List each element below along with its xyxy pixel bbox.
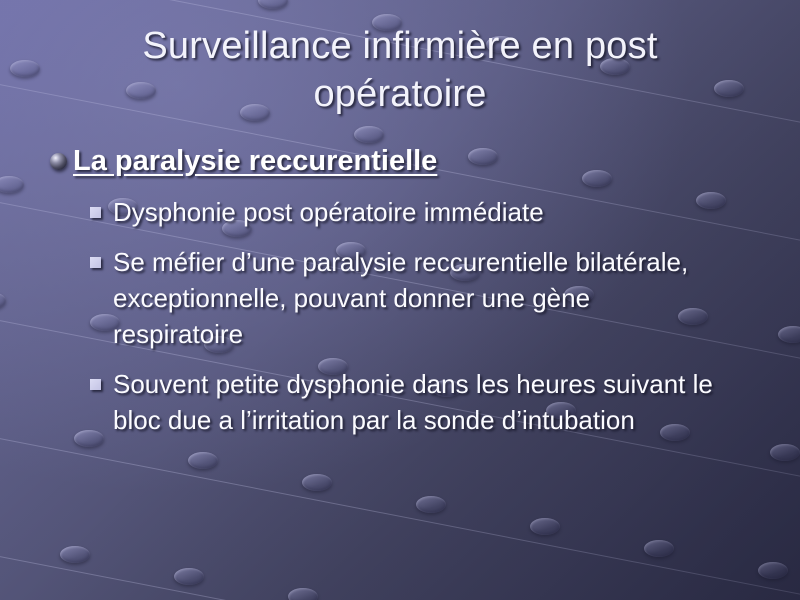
square-bullet-icon xyxy=(90,257,101,268)
square-bullet-icon xyxy=(90,379,101,390)
bullet-level1-text: La paralysie reccurentielle xyxy=(73,145,437,177)
bullet-level2: Dysphonie post opératoire immédiate xyxy=(0,194,800,230)
slide-title: Surveillance infirmière en post opératoi… xyxy=(60,22,740,118)
sphere-bullet-icon xyxy=(50,153,67,170)
presentation-slide: Surveillance infirmière en post opératoi… xyxy=(0,0,800,600)
bullet-level2: Souvent petite dysphonie dans les heures… xyxy=(0,366,800,438)
slide-body: La paralysie reccurentielle Dysphonie po… xyxy=(0,142,800,438)
slide-content: Surveillance infirmière en post opératoi… xyxy=(0,0,800,600)
bullet-level1: La paralysie reccurentielle xyxy=(0,142,800,180)
square-bullet-icon xyxy=(90,207,101,218)
bullet-level2-text: Dysphonie post opératoire immédiate xyxy=(113,197,544,227)
bullet-level2-text: Se méfier d’une paralysie reccurentielle… xyxy=(113,247,688,349)
bullet-level2: Se méfier d’une paralysie reccurentielle… xyxy=(0,244,800,352)
bullet-level2-text: Souvent petite dysphonie dans les heures… xyxy=(113,369,713,435)
